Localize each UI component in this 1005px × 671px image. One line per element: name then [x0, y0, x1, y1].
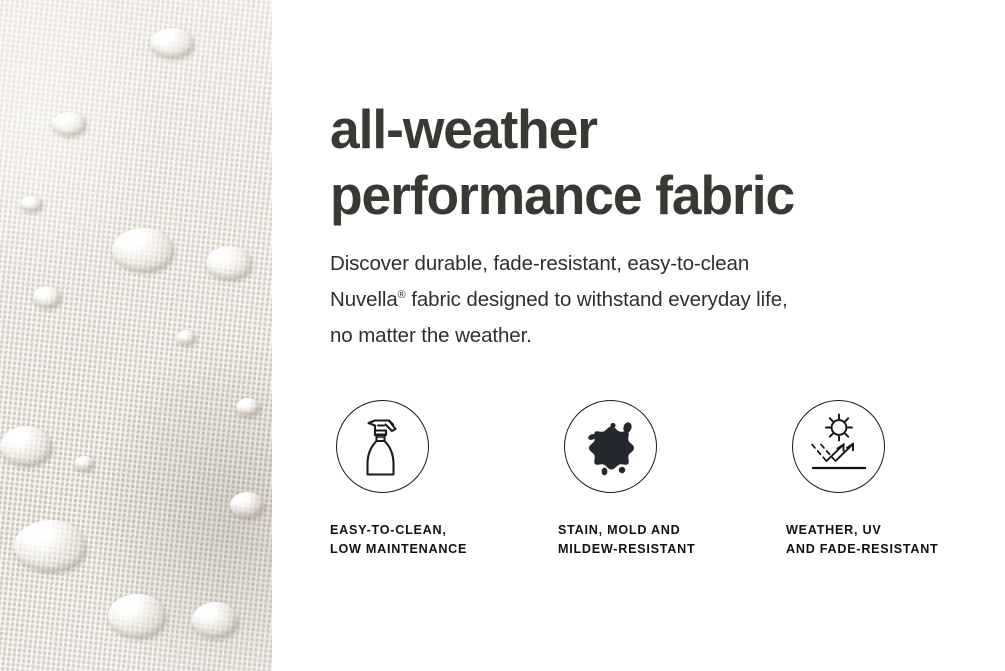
water-droplet [230, 492, 264, 518]
description-line-2: fabric designed to withstand everyday li… [406, 288, 788, 311]
promo-content-panel: all-weather performance fabric Discover … [272, 0, 1005, 671]
stain-splat-icon [564, 400, 657, 493]
water-droplet [236, 398, 260, 416]
feature-caption: WEATHER, UV AND FADE-RESISTANT [786, 521, 1005, 559]
feature-weather-uv-resistant: WEATHER, UV AND FADE-RESISTANT [792, 400, 1005, 559]
water-droplet [52, 112, 86, 136]
registered-trademark-icon: ® [398, 289, 406, 301]
feature-easy-to-clean: EASY-TO-CLEAN, LOW MAINTENANCE [336, 400, 551, 559]
water-droplet [108, 594, 166, 638]
fabric-water-beading-photo [0, 0, 272, 671]
water-droplet [192, 602, 238, 638]
feature-caption: EASY-TO-CLEAN, LOW MAINTENANCE [330, 521, 551, 559]
water-droplet [33, 286, 61, 308]
description-line-1: Discover durable, fade-resistant, easy-t… [330, 252, 749, 275]
feature-stain-resistant: STAIN, MOLD AND MILDEW-RESISTANT [564, 400, 779, 559]
all-weather-fabric-promo-banner: all-weather performance fabric Discover … [0, 0, 1005, 671]
description-line-3: no matter the weather. [330, 324, 532, 347]
water-droplet [74, 456, 94, 471]
water-droplet [112, 228, 174, 272]
feature-benefits-row: EASY-TO-CLEAN, LOW MAINTENANCE [330, 400, 990, 570]
page-title: all-weather performance fabric [330, 96, 970, 228]
water-droplet [206, 246, 252, 280]
feature-caption: STAIN, MOLD AND MILDEW-RESISTANT [558, 521, 779, 559]
sun-uv-reflect-icon [792, 400, 885, 493]
water-droplet [150, 28, 194, 58]
brand-name: Nuvella [330, 288, 398, 311]
promo-description: Discover durable, fade-resistant, easy-t… [330, 246, 970, 354]
water-droplet [14, 520, 86, 572]
water-droplet [20, 196, 42, 212]
water-droplet [176, 330, 196, 345]
water-droplet [0, 426, 52, 466]
spray-bottle-icon [336, 400, 429, 493]
